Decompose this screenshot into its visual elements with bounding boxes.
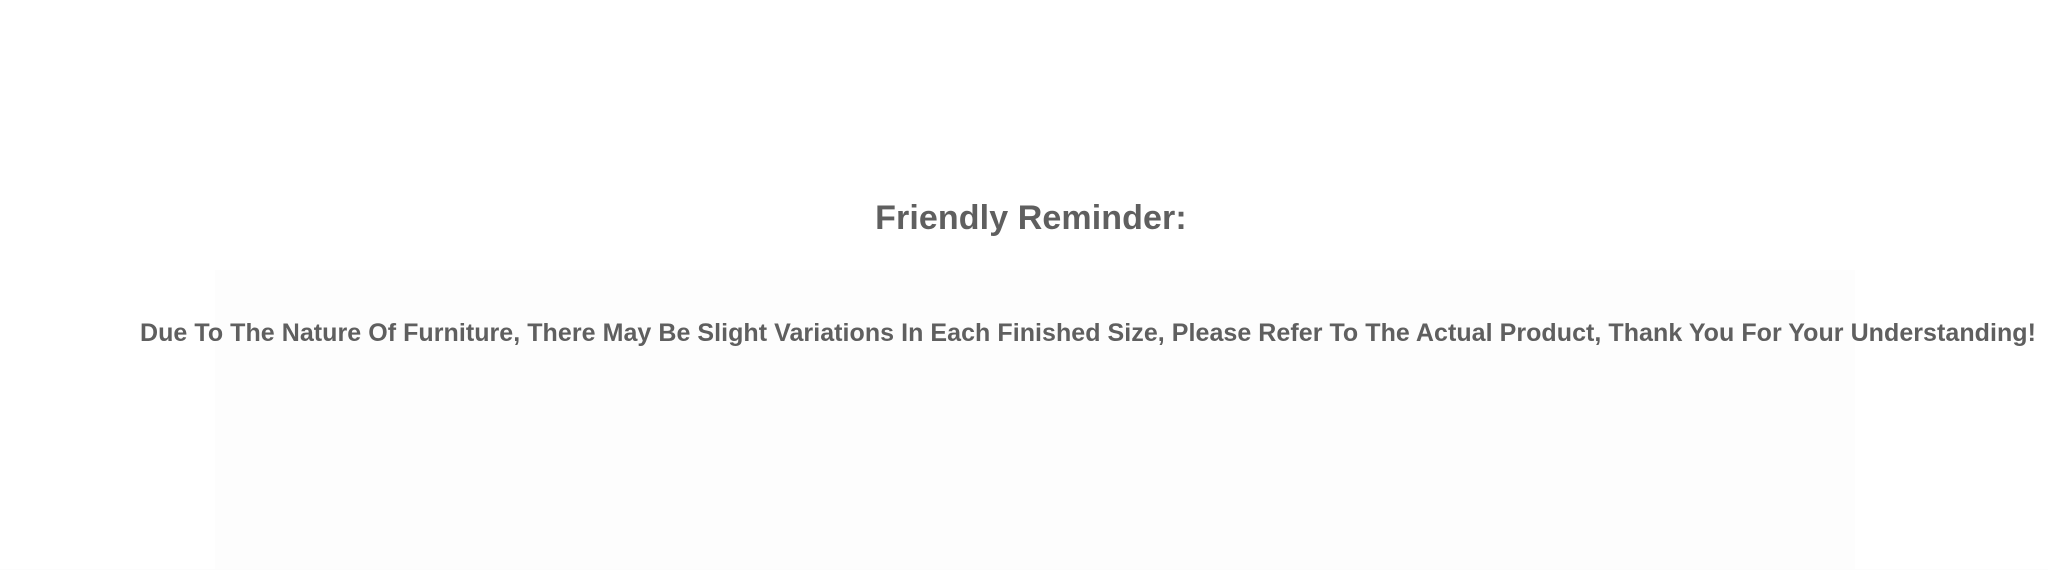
notice-block: Friendly Reminder: Due To The Nature Of … <box>0 0 2048 584</box>
friendly-reminder-page: Friendly Reminder: Due To The Nature Of … <box>0 0 2048 584</box>
notice-body-text: Due To The Nature Of Furniture, There Ma… <box>0 314 2048 352</box>
notice-heading: Friendly Reminder: <box>0 196 2048 240</box>
